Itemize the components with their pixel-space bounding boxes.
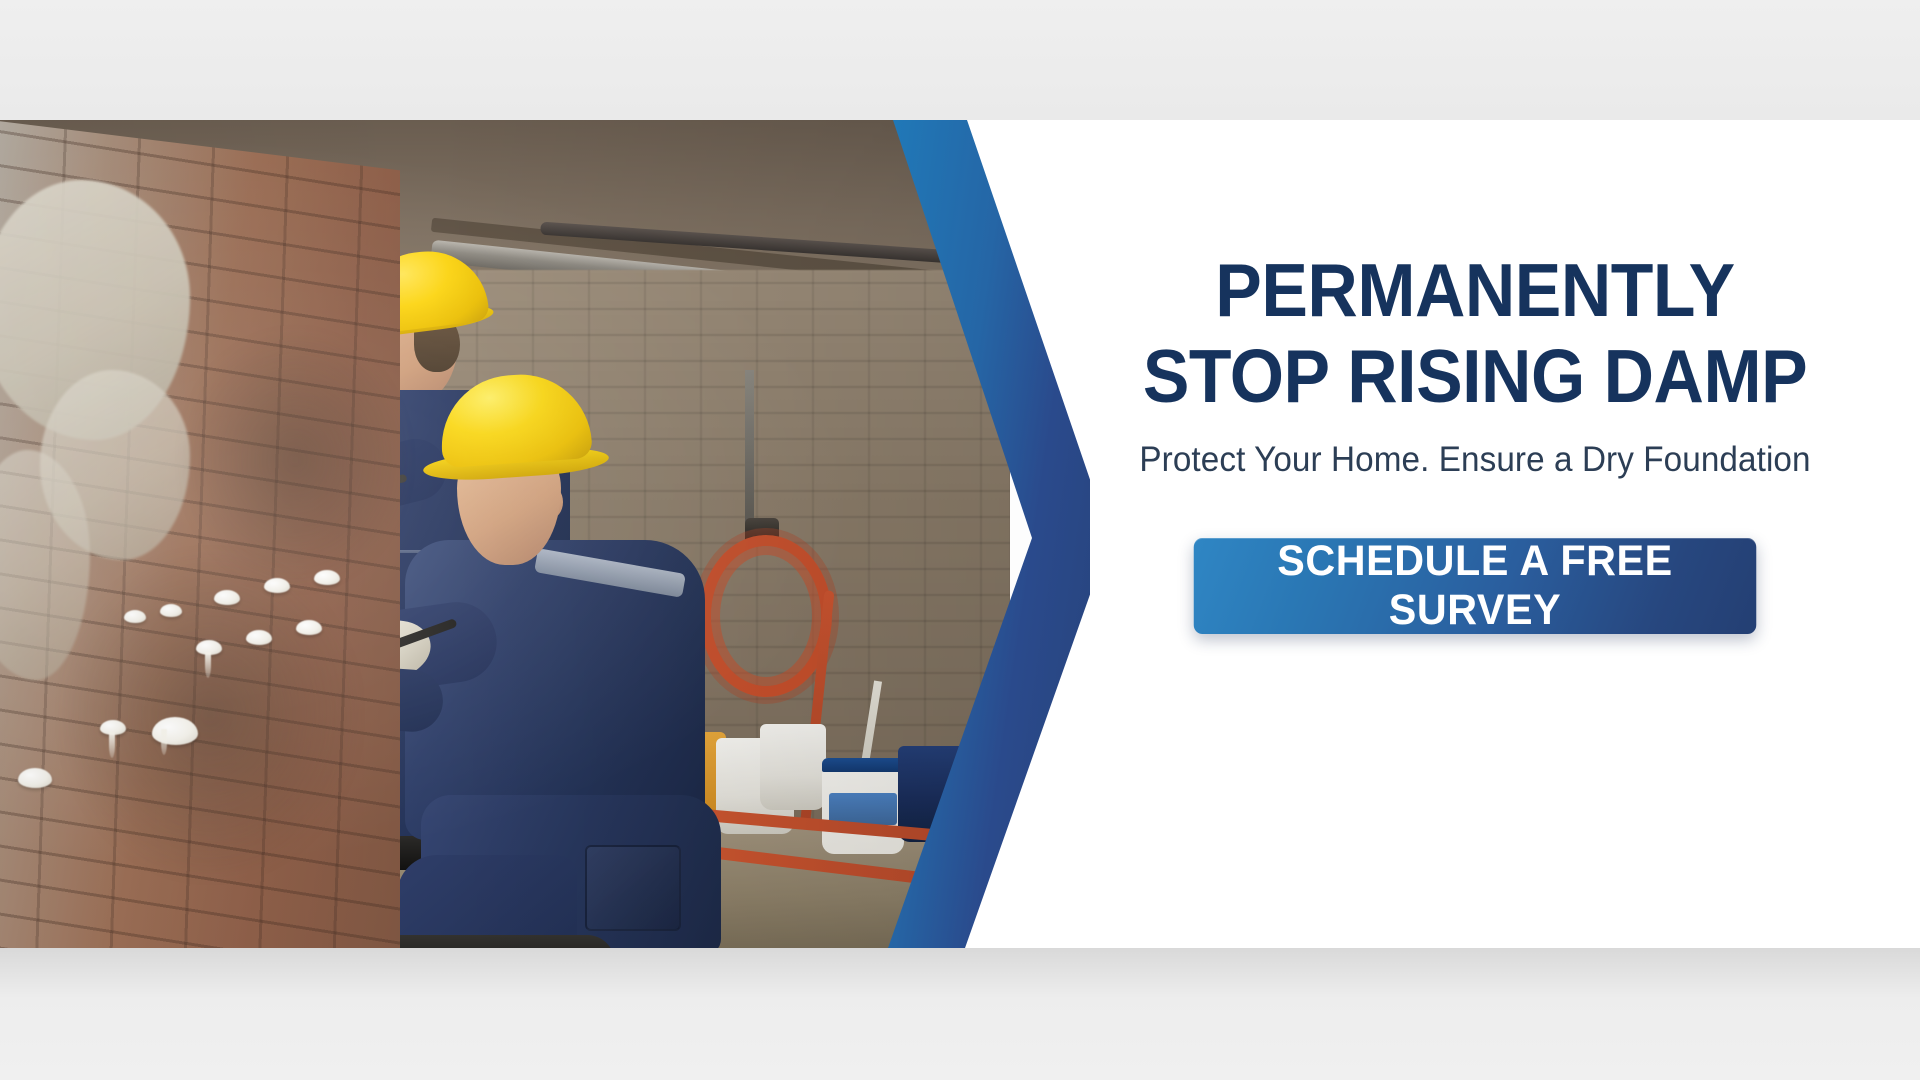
headline-line-2: STOP RISING DAMP [1117, 334, 1833, 420]
injection-cream-plug [152, 717, 198, 745]
bucket-rim [822, 758, 904, 772]
bucket-blue-label [822, 758, 904, 854]
schedule-free-survey-button[interactable]: SCHEDULE A FREE SURVEY [1194, 538, 1757, 634]
bucket-white-mid [760, 724, 826, 810]
banner-photo [0, 120, 1010, 948]
subheadline: Protect Your Home. Ensure a Dry Foundati… [1109, 440, 1841, 480]
damp-stain [180, 330, 410, 590]
page-title: PERMANENTLY STOP RISING DAMP [1117, 248, 1833, 419]
yellow-hard-hat [437, 370, 593, 468]
page-canvas: PERMANENTLY STOP RISING DAMP Protect You… [0, 0, 1920, 1080]
damp-stain [60, 550, 360, 880]
page-background-bottom [0, 948, 1920, 1080]
injection-cream-plug [214, 590, 240, 605]
cta-container: SCHEDULE A FREE SURVEY [1090, 538, 1860, 634]
injection-cream-plug [246, 630, 272, 645]
injection-cream-plug [18, 768, 52, 788]
worker-kneeling-boot [385, 935, 615, 948]
banner-content-panel: PERMANENTLY STOP RISING DAMP Protect You… [1090, 120, 1920, 948]
injection-cream-plug [124, 610, 146, 623]
injection-cream-plug [196, 640, 222, 655]
injection-cream-plug [264, 578, 290, 593]
headline-line-1: PERMANENTLY [1215, 248, 1734, 332]
injection-cream-plug [296, 620, 322, 635]
page-background-top [0, 0, 1920, 120]
injection-cream-plug [100, 720, 126, 735]
injection-cream-plug [160, 604, 182, 617]
injection-cream-plug [314, 570, 340, 585]
promo-banner: PERMANENTLY STOP RISING DAMP Protect You… [0, 120, 1920, 948]
coverall-pocket [585, 845, 681, 931]
